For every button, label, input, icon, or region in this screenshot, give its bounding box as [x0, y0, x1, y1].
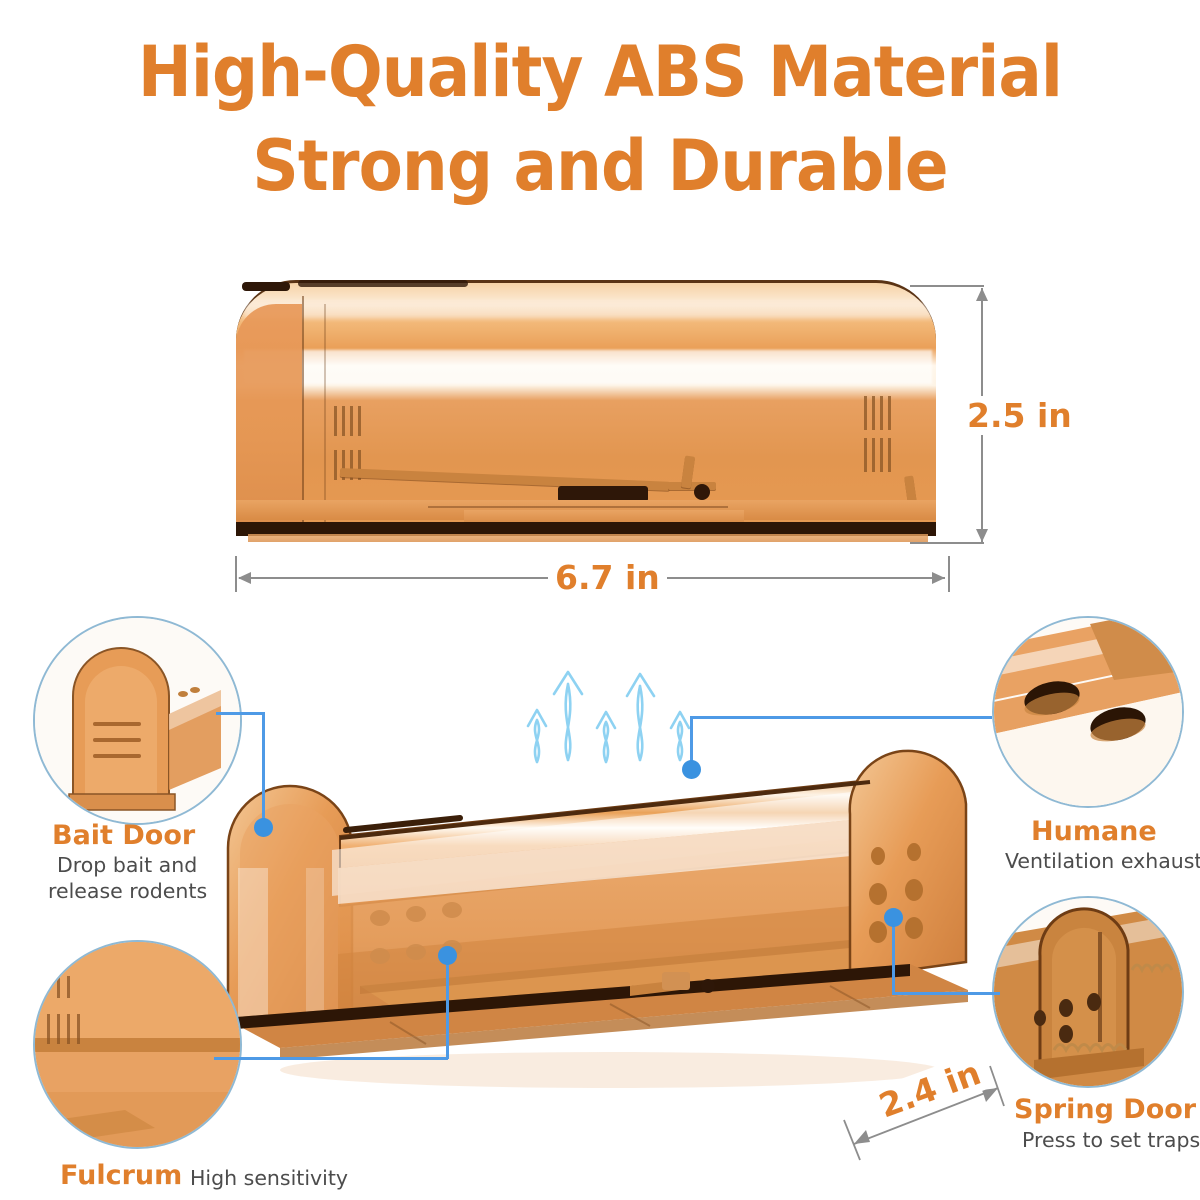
infographic-canvas: High-Quality ABS Material Strong and Dur… — [0, 0, 1200, 1200]
inset-spring-door — [992, 896, 1184, 1088]
marker-spring-door — [884, 908, 903, 927]
height-tick-top — [910, 285, 984, 287]
height-tick-bottom — [910, 542, 984, 544]
callout-sub-fulcrum: High sensitivity — [190, 1166, 348, 1192]
marker-fulcrum — [438, 946, 457, 965]
bait-door-photo — [35, 618, 240, 823]
width-arrow-left — [238, 572, 251, 584]
door-seam — [302, 296, 304, 526]
trigger-platform — [662, 972, 690, 990]
callout-title-spring-door: Spring Door — [1014, 1094, 1196, 1125]
callout-sub-humane: Ventilation exhaust — [1005, 849, 1200, 875]
tray-seam — [428, 506, 728, 508]
product-side-view — [228, 278, 943, 556]
spring-door-photo — [994, 898, 1182, 1086]
width-arrow-right — [932, 572, 945, 584]
fulcrum-photo — [35, 942, 240, 1147]
trigger-knob-3d — [701, 979, 715, 993]
ventilation-holes-photo — [994, 618, 1182, 806]
height-dimension-label: 2.5 in — [960, 396, 1079, 435]
inset-bait-door — [33, 616, 242, 825]
inset-humane — [992, 616, 1184, 808]
page-title: High-Quality ABS Material Strong and Dur… — [48, 26, 1152, 214]
height-arrow-down — [976, 529, 988, 542]
lid-highlight-secondary — [244, 302, 932, 318]
callout-sub-spring-door: Press to set traps — [1022, 1128, 1200, 1154]
hinge-bar — [298, 280, 468, 287]
door-seam-2 — [324, 304, 326, 526]
width-tick-right — [948, 556, 950, 592]
callout-title-humane: Humane — [1031, 816, 1157, 847]
width-dimension-label: 6.7 in — [548, 558, 667, 597]
right-end-cap-spring-door — [850, 751, 966, 978]
front-door-panel — [236, 304, 302, 526]
headline-line-2: Strong and Durable — [48, 120, 1152, 214]
width-tick-left — [235, 556, 237, 592]
base-foot — [248, 534, 928, 542]
hinge-left — [242, 282, 290, 291]
lid-highlight — [244, 350, 932, 384]
callout-sub-bait-door-1: Drop bait and — [57, 853, 197, 879]
marker-bait-door — [254, 818, 273, 837]
marker-humane — [682, 760, 701, 779]
callout-title-bait-door: Bait Door — [52, 820, 195, 851]
dimension-depth: 2.4 in — [832, 1062, 1012, 1172]
headline-line-1: High-Quality ABS Material — [138, 31, 1062, 113]
inset-fulcrum — [33, 940, 242, 1149]
trigger-knob — [694, 484, 710, 500]
height-arrow-up — [976, 288, 988, 301]
callout-sub-bait-door-2: release rodents — [48, 879, 207, 905]
callout-title-fulcrum: Fulcrum — [60, 1160, 182, 1191]
